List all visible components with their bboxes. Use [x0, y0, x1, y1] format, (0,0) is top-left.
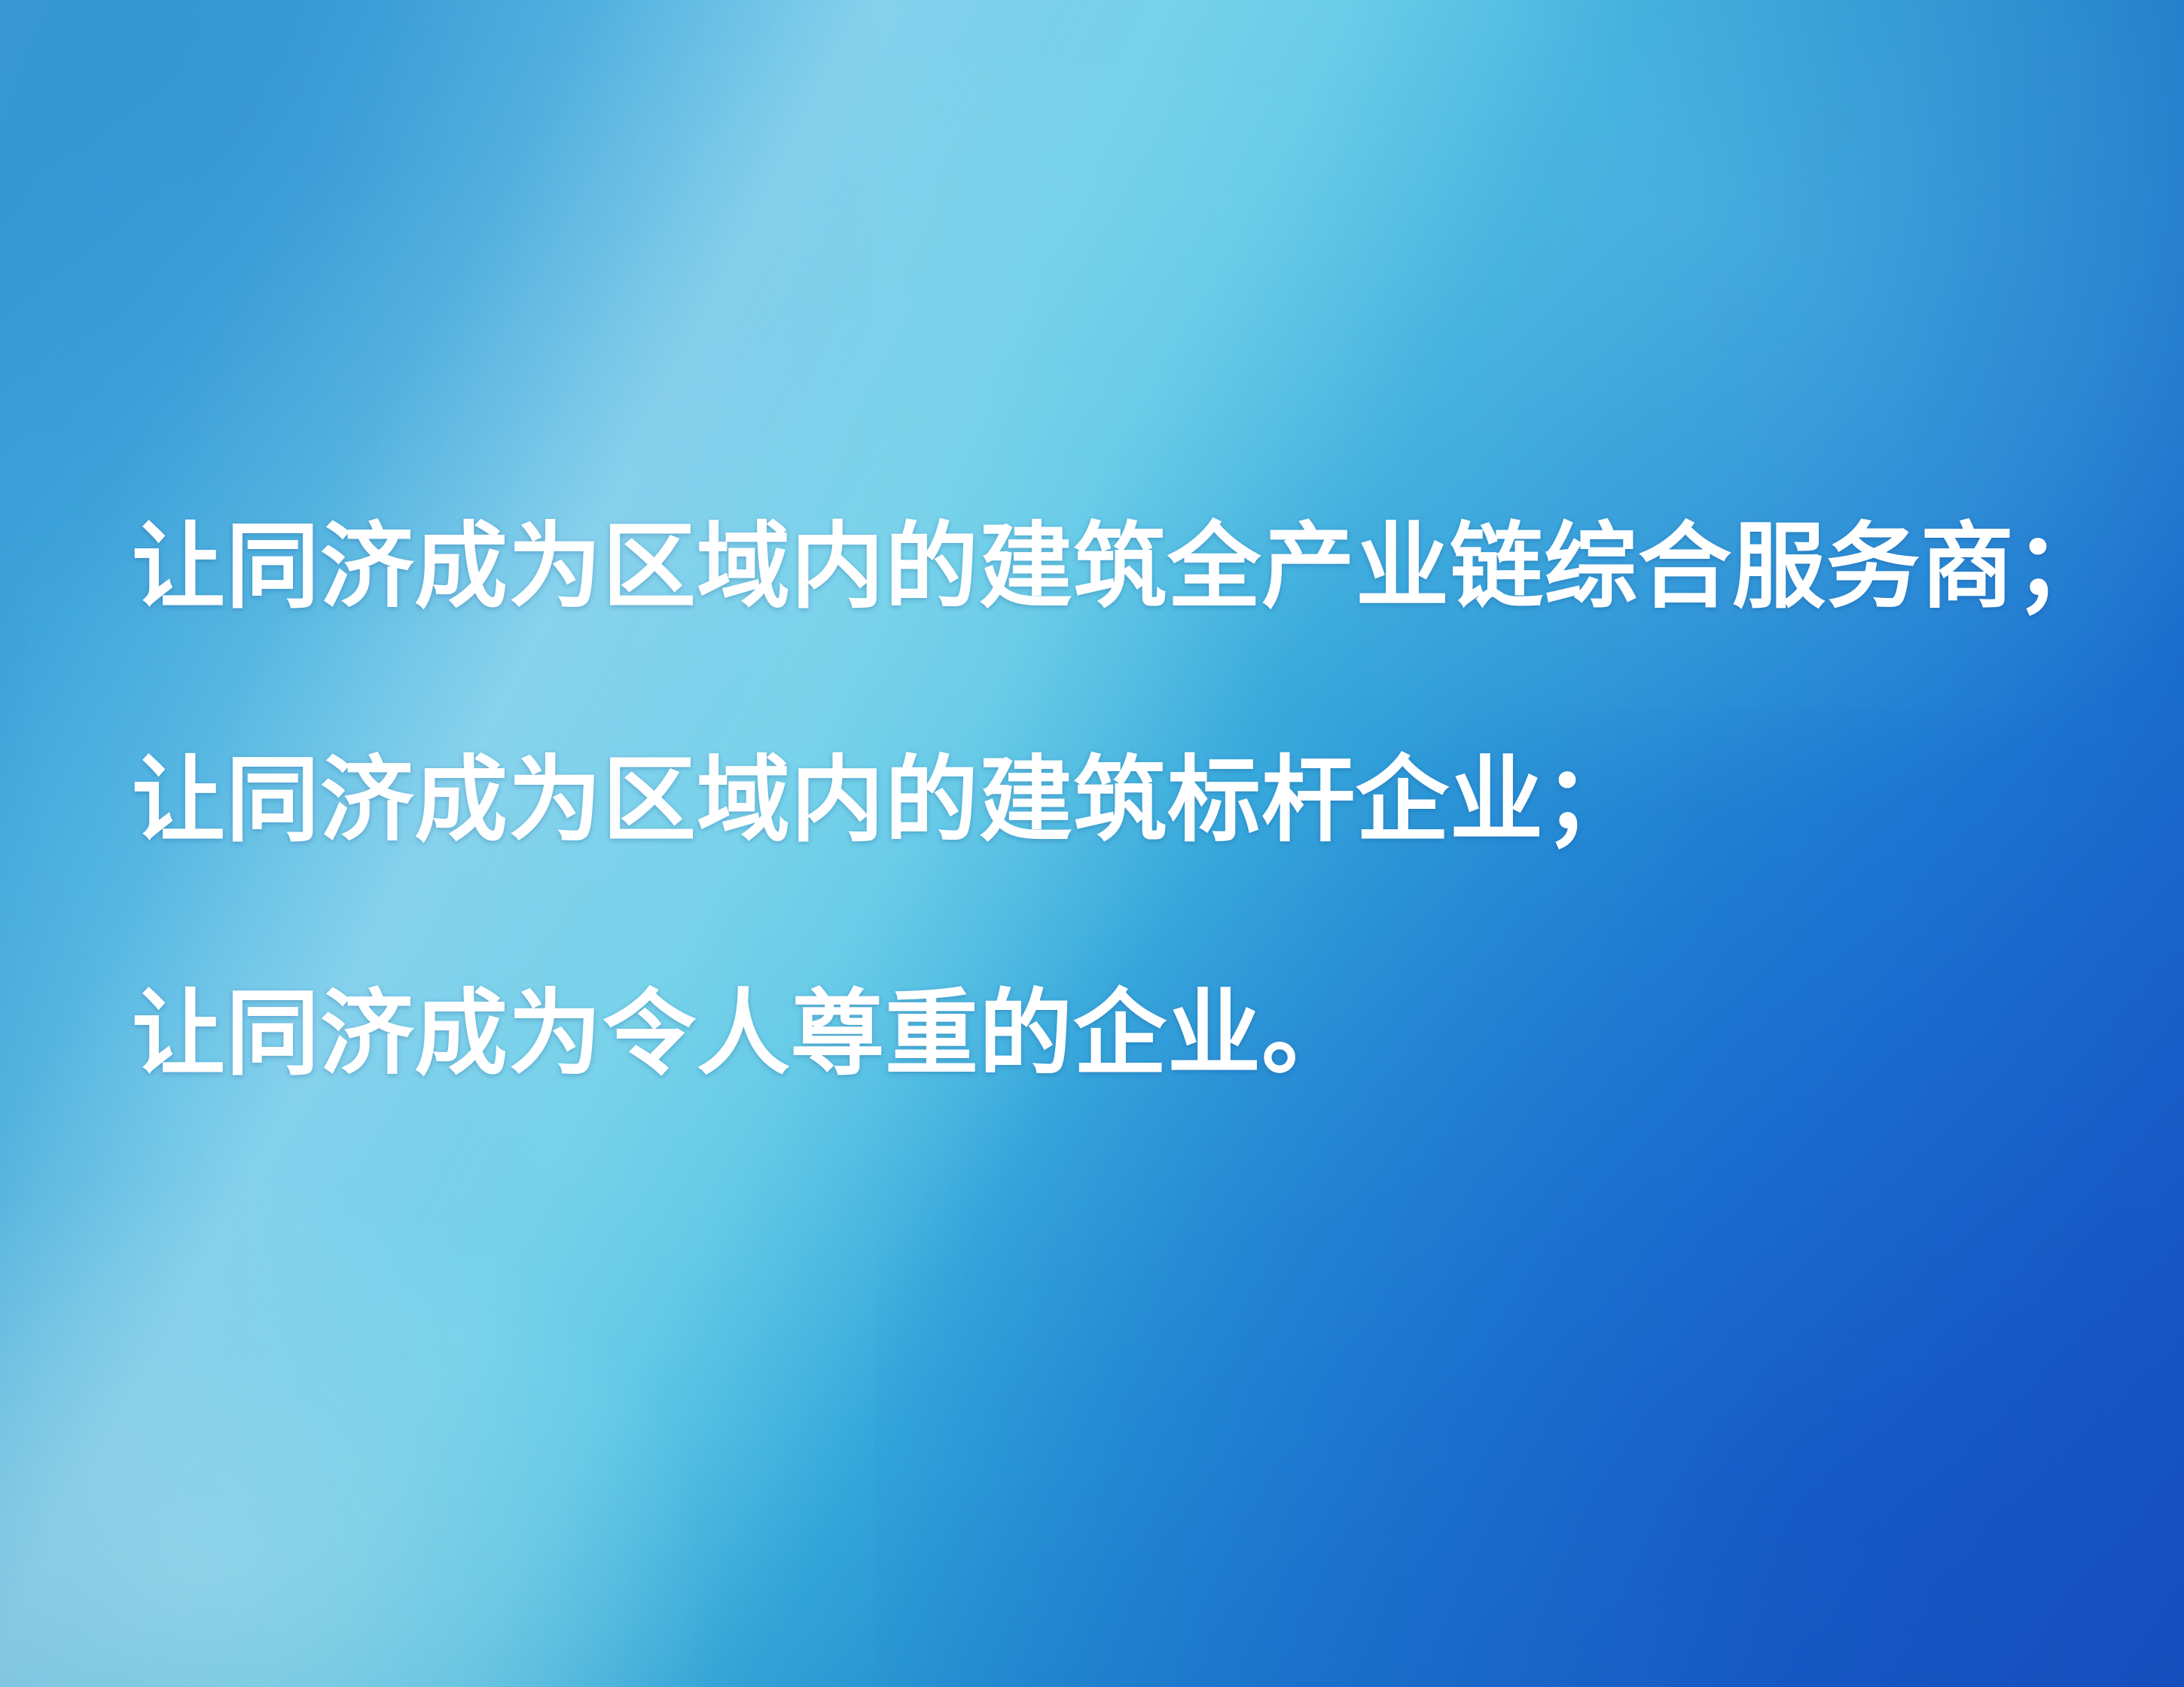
slide-line-1: 让同济成为区域内的建筑全产业链综合服务商；: [132, 450, 2090, 684]
slide-line-2: 让同济成为区域内的建筑标杆企业；: [132, 684, 2090, 917]
slide-canvas: 让同济成为区域内的建筑全产业链综合服务商； 让同济成为区域内的建筑标杆企业； 让…: [0, 0, 2184, 1687]
slide-line-3: 让同济成为令人尊重的企业。: [132, 917, 2090, 1151]
slide-text-block: 让同济成为区域内的建筑全产业链综合服务商； 让同济成为区域内的建筑标杆企业； 让…: [132, 450, 2090, 1151]
